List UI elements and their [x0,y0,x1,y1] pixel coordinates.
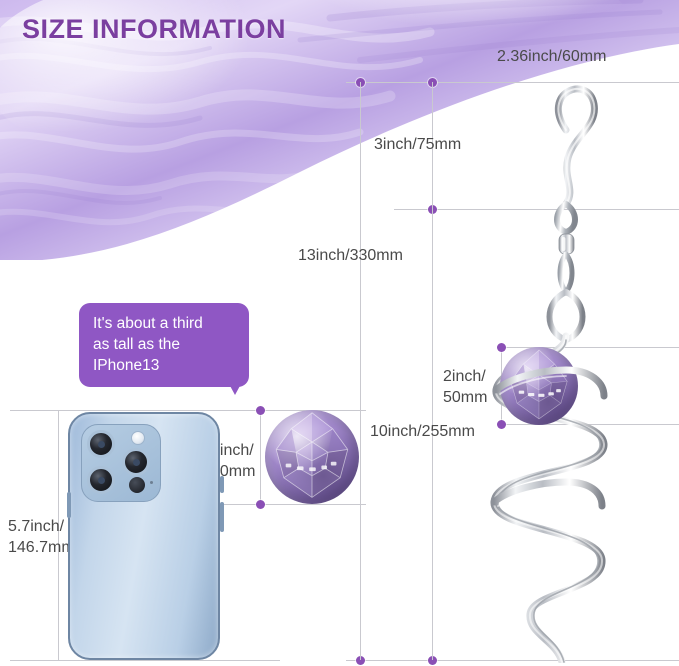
label-hook-height: 3inch/75mm [374,134,428,155]
camera-lens-top-left [87,430,115,458]
size-information-infographic: SIZE INFORMATION 2.36inch/60mm 3inch/75m… [0,0,679,666]
iphone-13-pro-image [68,412,220,660]
dim-line-phone-bottom [10,660,280,661]
crystal-facet-pattern-small [265,410,359,504]
page-title: SIZE INFORMATION [22,14,286,45]
camera-module [81,424,161,502]
camera-lens-bottom-left [87,466,115,494]
dim-line-baseline [346,660,679,661]
dim-guide-hook [432,82,433,660]
dim-line-crystal2-bottom [206,504,366,505]
mute-switch [67,492,71,518]
camera-lens-right [122,448,150,476]
header-watercolor-shape [0,0,679,260]
header-banner: SIZE INFORMATION [0,0,679,260]
lidar-sensor [129,477,145,493]
label-hanger-width: 2.36inch/60mm [497,46,606,67]
purple-faceted-crystal-ball-large [500,347,578,425]
callout-tail [222,371,248,395]
crystal-facet-pattern-large [500,347,578,425]
camera-flash [131,431,145,445]
volume-down-button [220,502,224,532]
dim-dot-crystal2-bottom [256,500,265,509]
label-spiral-height: 10inch/255mm [370,421,430,442]
volume-up-button [220,476,224,493]
dim-dot-crystal2-top [256,406,265,415]
microphone-dot [150,481,153,484]
dim-guide-total [360,82,361,660]
dim-line-top [346,82,679,83]
dim-guide-crystal2 [260,410,261,505]
label-phone-height: 5.7inch/ 146.7mm [8,516,75,558]
purple-faceted-crystal-ball-small [265,410,359,504]
label-total-height: 13inch/330mm [298,245,356,266]
label-crystal-size-right: 2inch/ 50mm [443,366,487,408]
